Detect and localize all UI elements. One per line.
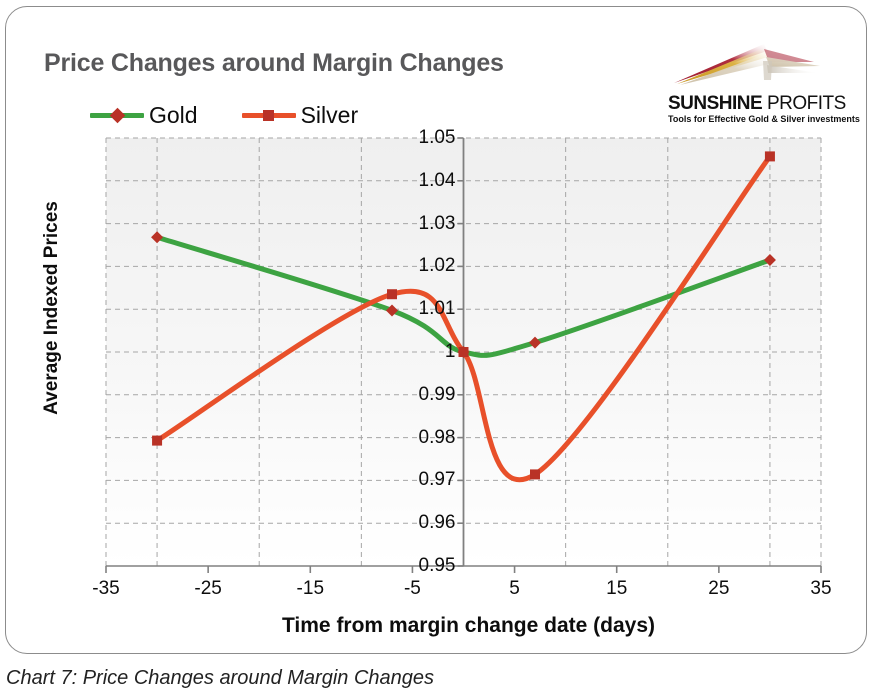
y-axis-title: Average Indexed Prices	[41, 198, 63, 418]
x-tick-label: 5	[509, 578, 520, 600]
data-marker-silver	[387, 289, 397, 299]
y-tick-label: 1.02	[398, 255, 456, 277]
y-tick-label: 1.04	[398, 170, 456, 192]
y-tick-label: 0.96	[398, 512, 456, 534]
x-tick-label: 35	[810, 578, 831, 600]
x-axis-title: Time from margin change date (days)	[111, 614, 826, 638]
y-tick-label: 0.99	[398, 384, 456, 406]
chart-page: Price Changes around Margin Changes	[0, 0, 875, 700]
data-marker-silver	[459, 347, 469, 357]
x-tick-label: 25	[708, 578, 729, 600]
y-tick-label: 0.98	[398, 427, 456, 449]
y-tick-label: 0.97	[398, 469, 456, 491]
x-tick-label: -25	[194, 578, 221, 600]
x-tick-label: 15	[606, 578, 627, 600]
y-tick-label: 0.95	[398, 555, 456, 577]
y-tick-label: 1.03	[398, 213, 456, 235]
chart-frame: Price Changes around Margin Changes	[5, 6, 867, 654]
y-tick-label: 1	[398, 341, 456, 363]
x-tick-label: -15	[297, 578, 324, 600]
x-tick-label: -5	[404, 578, 421, 600]
y-tick-label: 1.05	[398, 127, 456, 149]
data-marker-silver	[765, 151, 775, 161]
figure-caption: Chart 7: Price Changes around Margin Cha…	[6, 667, 434, 690]
y-tick-label: 1.01	[398, 298, 456, 320]
data-marker-silver	[152, 436, 162, 446]
data-marker-silver	[530, 469, 540, 479]
x-tick-label: -35	[92, 578, 119, 600]
plot-area: Average Indexed Prices Time from margin …	[6, 7, 868, 655]
